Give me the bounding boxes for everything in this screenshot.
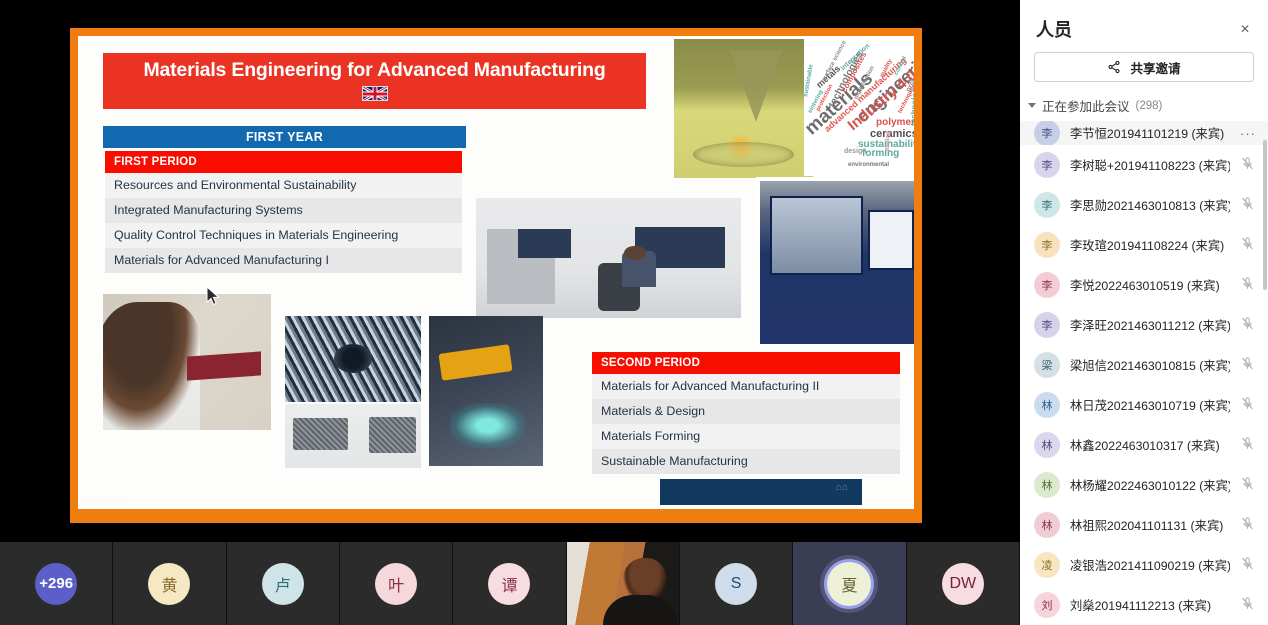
- mic-muted-icon: [1240, 236, 1255, 251]
- participant-avatar: 凌: [1034, 552, 1060, 578]
- participant-row[interactable]: 凌凌银浩2021411090219 (来宾): [1020, 545, 1268, 585]
- participant-avatar: 李: [1034, 312, 1060, 338]
- participant-row[interactable]: 刘刘燊201941112213 (来宾): [1020, 585, 1268, 625]
- participant-row[interactable]: 李李思勋2021463010813 (来宾): [1020, 185, 1268, 225]
- second-period-heading: SECOND PERIOD: [592, 352, 900, 374]
- shared-slide: materialsengineeringIndustry 4.0advanced…: [78, 36, 914, 509]
- participant-name: 李玫瑄201941108224 (来宾): [1070, 236, 1230, 254]
- institution-logo: ⌂⌂: [836, 482, 848, 493]
- participant-mic-status[interactable]: [1240, 436, 1256, 454]
- participant-filmstrip[interactable]: +296黄卢叶谭S夏DW: [0, 542, 1020, 625]
- in-meeting-section-header[interactable]: 正在参加此会议 (298): [1020, 92, 1268, 121]
- chevron-down-icon: [1028, 103, 1036, 108]
- avatar: 谭: [488, 563, 530, 605]
- participant-avatar-lu[interactable]: 卢: [227, 542, 340, 625]
- participant-avatar-ye[interactable]: 叶: [340, 542, 453, 625]
- shared-content-stage[interactable]: materialsengineeringIndustry 4.0advanced…: [0, 0, 1020, 625]
- word-cloud-term: ceramics: [870, 129, 914, 140]
- avatar: 黄: [148, 563, 190, 605]
- slide-title-banner: Materials Engineering for Advanced Manuf…: [103, 53, 646, 109]
- participant-avatar: 林: [1034, 512, 1060, 538]
- participant-avatar: 梁: [1034, 352, 1060, 378]
- participant-name: 李思勋2021463010813 (来宾): [1070, 196, 1230, 214]
- participant-avatar: 林: [1034, 432, 1060, 458]
- lab-researcher-photo: Wittmann: [103, 294, 271, 430]
- participant-row[interactable]: 梁梁旭信2021463010815 (来宾): [1020, 345, 1268, 385]
- participant-mic-status[interactable]: [1240, 316, 1256, 334]
- mic-muted-icon: [1240, 516, 1255, 531]
- course-item: Sustainable Manufacturing: [592, 449, 900, 474]
- avatar: 卢: [262, 563, 304, 605]
- participant-video-tile[interactable]: [567, 542, 680, 625]
- word-cloud-image: materialsengineeringIndustry 4.0advanced…: [804, 36, 914, 176]
- share-icon: [1107, 60, 1121, 74]
- participant-name: 林祖熙202041101131 (来宾): [1070, 516, 1230, 534]
- people-panel-title: 人员: [1036, 16, 1072, 42]
- participant-mic-status[interactable]: [1240, 356, 1256, 374]
- participant-avatar: 李: [1034, 152, 1060, 178]
- participant-name: 李悦2022463010519 (来宾): [1070, 276, 1230, 294]
- participant-mic-status[interactable]: [1240, 396, 1256, 414]
- participant-row[interactable]: 林林日茂2021463010719 (来宾): [1020, 385, 1268, 425]
- course-item: Integrated Manufacturing Systems: [105, 198, 462, 223]
- participant-mic-status[interactable]: [1240, 556, 1256, 574]
- mic-muted-icon: [1240, 196, 1255, 211]
- participant-row[interactable]: 林林杨耀2022463010122 (来宾): [1020, 465, 1268, 505]
- mic-muted-icon: [1240, 396, 1255, 411]
- participant-avatar-huang[interactable]: 黄: [113, 542, 226, 625]
- shared-slide-frame[interactable]: materialsengineeringIndustry 4.0advanced…: [70, 28, 922, 523]
- injection-molding-machine-photo: [760, 181, 914, 344]
- participant-avatar-tan[interactable]: 谭: [453, 542, 566, 625]
- share-invite-label: 共享邀请: [1130, 58, 1180, 77]
- participant-row[interactable]: 李李玫瑄201941108224 (来宾): [1020, 225, 1268, 265]
- participant-name: 林杨耀2022463010122 (来宾): [1070, 476, 1230, 494]
- avatar: DW: [942, 563, 984, 605]
- participant-name: 李节恒201941101219 (来宾): [1070, 124, 1230, 142]
- course-item: Resources and Environmental Sustainabili…: [105, 173, 462, 198]
- slide-footer-watermark: · · · · ·: [81, 498, 130, 507]
- participant-row[interactable]: 李李节恒201941101219 (来宾)···: [1020, 121, 1268, 145]
- mic-muted-icon: [1240, 316, 1255, 331]
- share-invite-row: 共享邀请: [1020, 50, 1268, 92]
- participant-avatar: 李: [1034, 272, 1060, 298]
- mic-muted-icon: [1240, 436, 1255, 451]
- avatar: 夏: [827, 562, 871, 606]
- first-period-heading: FIRST PERIOD: [105, 151, 462, 173]
- overflow-count[interactable]: +296: [0, 542, 113, 625]
- meeting-window: materialsengineeringIndustry 4.0advanced…: [0, 0, 1268, 625]
- participant-name: 林鑫2022463010317 (来宾): [1070, 436, 1230, 454]
- word-cloud-term: sustainable: [804, 64, 815, 98]
- lattice-structure-photo: [285, 316, 421, 402]
- automation-cell-photo: [429, 316, 543, 466]
- uk-flag-icon: [362, 86, 388, 101]
- in-meeting-label: 正在参加此会议: [1042, 96, 1130, 115]
- avatar: S: [715, 563, 757, 605]
- participant-row[interactable]: 李李悦2022463010519 (来宾): [1020, 265, 1268, 305]
- participant-mic-status[interactable]: [1240, 476, 1256, 494]
- participant-name: 李树聪+201941108223 (来宾): [1070, 156, 1230, 174]
- slide-footer-bar: ⌂⌂: [660, 479, 862, 505]
- people-panel: 人员 ✕ 共享邀请 正在参加此会议 (298) 李李节恒201941101219…: [1020, 0, 1268, 625]
- course-item: Materials for Advanced Manufacturing I: [105, 248, 462, 273]
- mic-muted-icon: [1240, 556, 1255, 571]
- participant-row[interactable]: 李李树聪+201941108223 (来宾): [1020, 145, 1268, 185]
- participant-avatar: 林: [1034, 472, 1060, 498]
- word-cloud-term: forming: [862, 149, 899, 159]
- participant-avatar: 林: [1034, 392, 1060, 418]
- word-cloud-term: joining: [885, 131, 892, 151]
- participant-avatar: 刘: [1034, 592, 1060, 618]
- metal-parts-photo: [285, 404, 421, 468]
- close-icon[interactable]: ✕: [1236, 21, 1254, 37]
- participant-mic-status[interactable]: [1240, 156, 1256, 174]
- participant-name: 刘燊201941112213 (来宾): [1070, 596, 1230, 614]
- participant-list[interactable]: 李李节恒201941101219 (来宾)···李李树聪+20194110822…: [1020, 121, 1268, 625]
- video-person-body: [603, 595, 677, 625]
- course-item: Materials Forming: [592, 424, 900, 449]
- mic-muted-icon: [1240, 276, 1255, 291]
- slide-title-text: Materials Engineering for Advanced Manuf…: [143, 59, 605, 82]
- course-item: Quality Control Techniques in Materials …: [105, 223, 462, 248]
- share-invite-button[interactable]: 共享邀请: [1034, 52, 1254, 82]
- wittmann-logo: Wittmann: [192, 357, 232, 366]
- additive-manufacturing-photo: [674, 39, 813, 178]
- mic-muted-icon: [1240, 476, 1255, 491]
- word-cloud-term: design: [844, 148, 867, 155]
- participant-mic-status[interactable]: [1240, 276, 1256, 294]
- first-period-block: FIRST PERIOD Resources and Environmental…: [105, 151, 462, 273]
- participant-avatar: 李: [1034, 232, 1060, 258]
- participant-name: 林日茂2021463010719 (来宾): [1070, 396, 1230, 414]
- participant-row[interactable]: 林林鑫2022463010317 (来宾): [1020, 425, 1268, 465]
- participant-mic-status[interactable]: [1240, 596, 1256, 614]
- participant-name: 梁旭信2021463010815 (来宾): [1070, 356, 1230, 374]
- first-year-band: FIRST YEAR: [103, 126, 466, 148]
- participant-avatar-dw[interactable]: DW: [907, 542, 1020, 625]
- participant-avatar-xia-speaking[interactable]: 夏: [793, 542, 906, 625]
- second-period-block: SECOND PERIOD Materials for Advanced Man…: [592, 352, 900, 474]
- course-item: Materials & Design: [592, 399, 900, 424]
- mic-muted-icon: [1240, 156, 1255, 171]
- participant-mic-status[interactable]: [1240, 196, 1256, 214]
- course-item: Materials for Advanced Manufacturing II: [592, 374, 900, 399]
- people-panel-header: 人员 ✕: [1020, 0, 1268, 50]
- mic-muted-icon: [1240, 596, 1255, 611]
- participant-name: 凌银浩2021411090219 (来宾): [1070, 556, 1230, 574]
- mic-muted-icon: [1240, 356, 1255, 371]
- participant-row[interactable]: 林林祖熙202041101131 (来宾): [1020, 505, 1268, 545]
- participant-row[interactable]: 李李泽旺2021463011212 (来宾): [1020, 305, 1268, 345]
- participant-avatar: 李: [1034, 121, 1060, 145]
- in-meeting-count: (298): [1136, 100, 1163, 112]
- participant-mic-status[interactable]: [1240, 236, 1256, 254]
- participant-mic-status[interactable]: [1240, 516, 1256, 534]
- lab-workstation-photo: [476, 198, 741, 318]
- participant-name: 李泽旺2021463011212 (来宾): [1070, 316, 1230, 334]
- participant-avatar-s[interactable]: S: [680, 542, 793, 625]
- word-cloud-term: environmental: [848, 162, 889, 168]
- participant-avatar: 李: [1034, 192, 1060, 218]
- participant-list-scrollbar[interactable]: [1263, 140, 1267, 290]
- avatar: 叶: [375, 563, 417, 605]
- avatar: +296: [35, 563, 77, 605]
- participant-more-options-icon[interactable]: ···: [1240, 126, 1256, 141]
